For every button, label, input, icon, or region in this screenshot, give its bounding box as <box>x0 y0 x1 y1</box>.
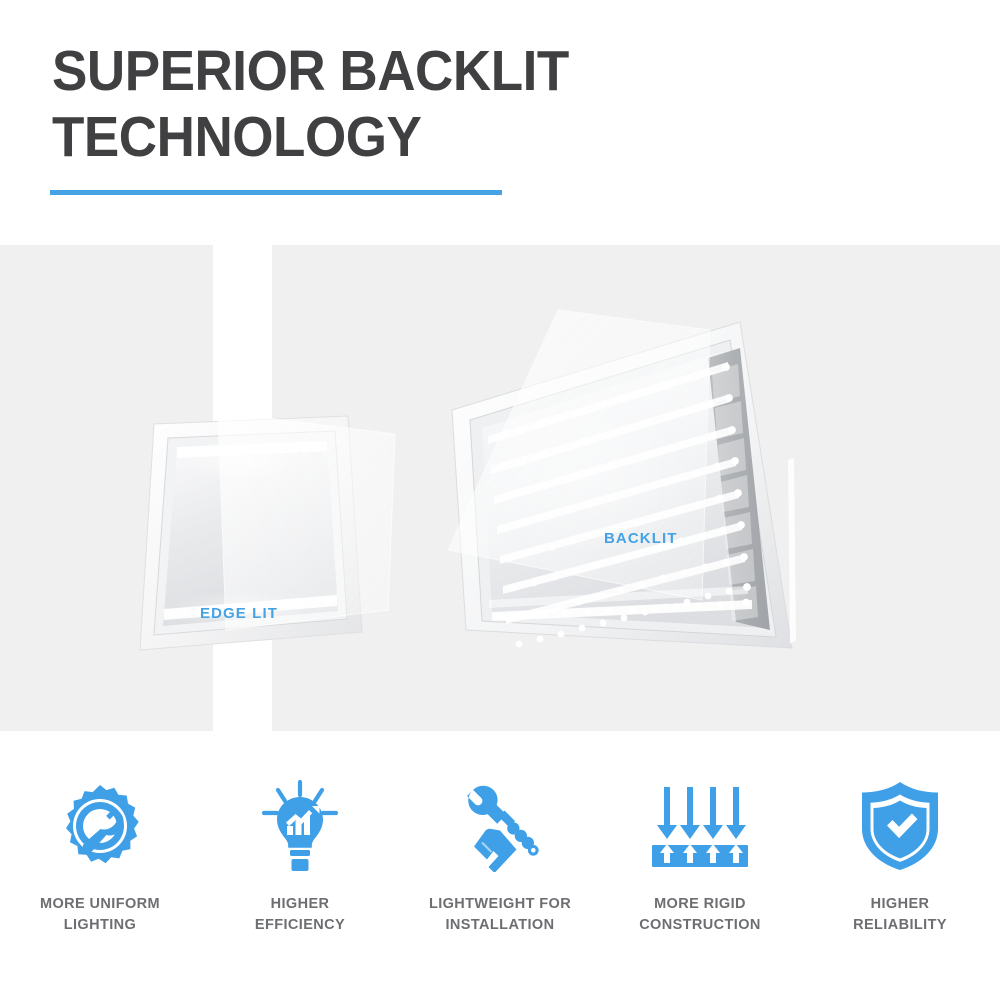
shield-check-icon <box>858 780 942 872</box>
pressure-arrows-icon <box>650 780 750 872</box>
features-row: MORE UNIFORM LIGHTING <box>0 780 1000 970</box>
gear-wrench-icon <box>56 780 144 872</box>
feature-lightweight-installation: LIGHTWEIGHT FOR INSTALLATION <box>400 780 600 936</box>
feature-label: HIGHER EFFICIENCY <box>255 894 345 936</box>
down-arrows <box>657 787 746 839</box>
product-comparison-stage: EDGE LIT BACKLIT <box>0 245 1000 731</box>
backlit-depth-strut <box>788 458 796 644</box>
title-underline-rule <box>50 190 502 195</box>
feature-higher-efficiency: HIGHER EFFICIENCY <box>200 780 400 936</box>
feature-more-rigid-construction: MORE RIGID CONSTRUCTION <box>600 780 800 936</box>
feature-more-uniform-lighting: MORE UNIFORM LIGHTING <box>0 780 200 936</box>
page-title: SUPERIOR BACKLIT TECHNOLOGY <box>52 38 852 170</box>
backlit-label: BACKLIT <box>604 530 678 547</box>
lightbulb-chart-icon <box>256 780 344 872</box>
feature-label: LIGHTWEIGHT FOR INSTALLATION <box>429 894 571 936</box>
feature-label: MORE UNIFORM LIGHTING <box>40 894 160 936</box>
header: SUPERIOR BACKLIT TECHNOLOGY <box>0 0 1000 245</box>
hand-wrench-icon <box>454 780 546 872</box>
feature-label: HIGHER RELIABILITY <box>853 894 947 936</box>
edge-lit-label: EDGE LIT <box>200 605 278 622</box>
feature-higher-reliability: HIGHER RELIABILITY <box>800 780 1000 936</box>
backlit-panel <box>440 300 810 700</box>
edge-lit-panel <box>130 410 410 670</box>
feature-label: MORE RIGID CONSTRUCTION <box>639 894 761 936</box>
